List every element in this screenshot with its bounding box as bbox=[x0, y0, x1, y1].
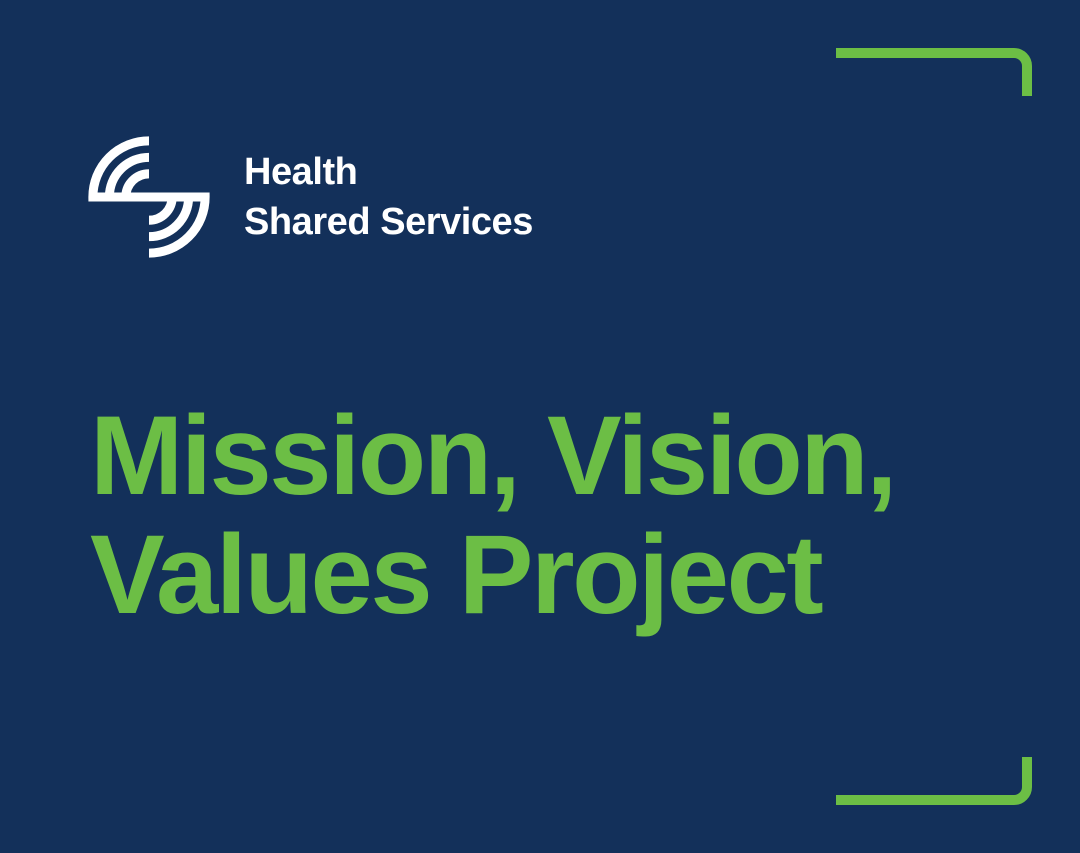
brand-wordmark: Health Shared Services bbox=[244, 153, 533, 241]
corner-bracket-top-right-icon bbox=[836, 48, 1032, 98]
brand-lockup: Health Shared Services bbox=[88, 136, 533, 258]
brand-wordmark-line-2: Shared Services bbox=[244, 203, 533, 241]
page-title: Mission, Vision, Values Project bbox=[90, 397, 990, 634]
title-slide: Health Shared Services Mission, Vision, … bbox=[0, 0, 1080, 853]
brand-wordmark-line-1: Health bbox=[244, 153, 533, 191]
page-title-line-1: Mission, Vision, bbox=[90, 397, 990, 516]
page-title-line-2: Values Project bbox=[90, 516, 990, 635]
health-shared-services-logo-icon bbox=[88, 136, 210, 258]
corner-bracket-bottom-right-icon bbox=[836, 755, 1032, 805]
